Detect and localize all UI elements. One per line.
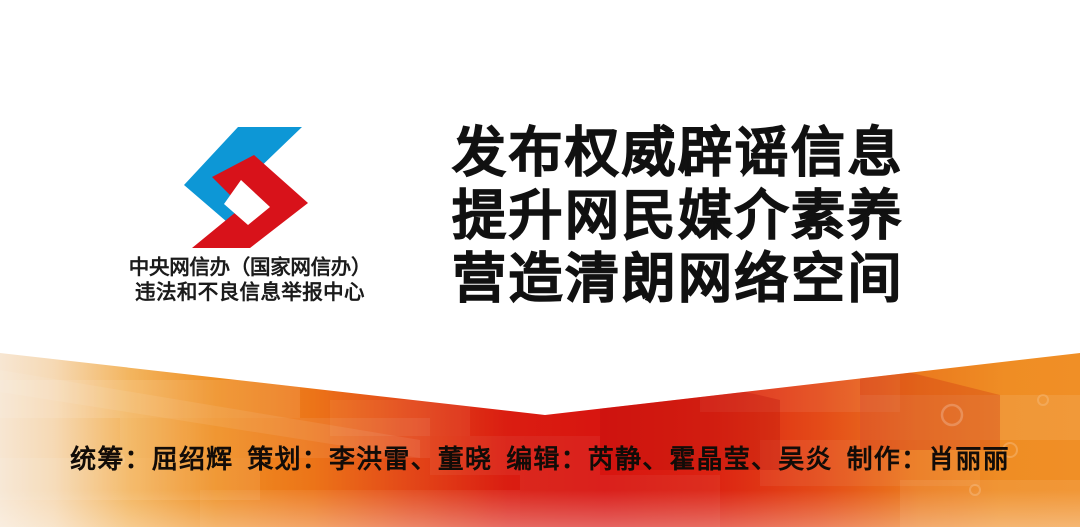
headline-line-1: 发布权威辟谣信息 <box>452 122 952 185</box>
agency-name-line-1: 中央网信办（国家网信办） <box>100 255 400 280</box>
credit-role-3-label: 编辑： <box>506 445 588 474</box>
report-center-chevron-emblem-icon <box>178 125 314 250</box>
credit-role-1-label: 统筹： <box>70 445 152 474</box>
agency-name-line-2: 违法和不良信息举报中心 <box>100 280 400 305</box>
credit-role-4-names: 肖丽丽 <box>928 445 1010 474</box>
agency-logo-block: 中央网信办（国家网信办） 违法和不良信息举报中心 <box>100 125 400 315</box>
agency-logo-caption: 中央网信办（国家网信办） 违法和不良信息举报中心 <box>100 255 400 305</box>
credit-role-2-names: 李洪雷、董晓 <box>329 445 492 474</box>
poster-root: 中央网信办（国家网信办） 违法和不良信息举报中心 发布权威辟谣信息 提升网民媒介… <box>0 0 1080 527</box>
headline-block: 发布权威辟谣信息 提升网民媒介素养 营造清朗网络空间 <box>452 122 952 311</box>
headline-line-3: 营造清朗网络空间 <box>452 248 952 311</box>
credit-role-3-names: 芮静、霍晶莹、吴炎 <box>588 445 833 474</box>
credits-line: 统筹：屈绍辉策划：李洪雷、董晓编辑：芮静、霍晶莹、吴炎制作：肖丽丽 <box>0 443 1080 477</box>
bottom-gradient-banner <box>0 340 1080 527</box>
headline-line-2: 提升网民媒介素养 <box>452 185 952 248</box>
credit-role-2-label: 策划： <box>247 445 329 474</box>
credit-role-4-label: 制作： <box>847 445 929 474</box>
credit-role-1-names: 屈绍辉 <box>152 445 234 474</box>
